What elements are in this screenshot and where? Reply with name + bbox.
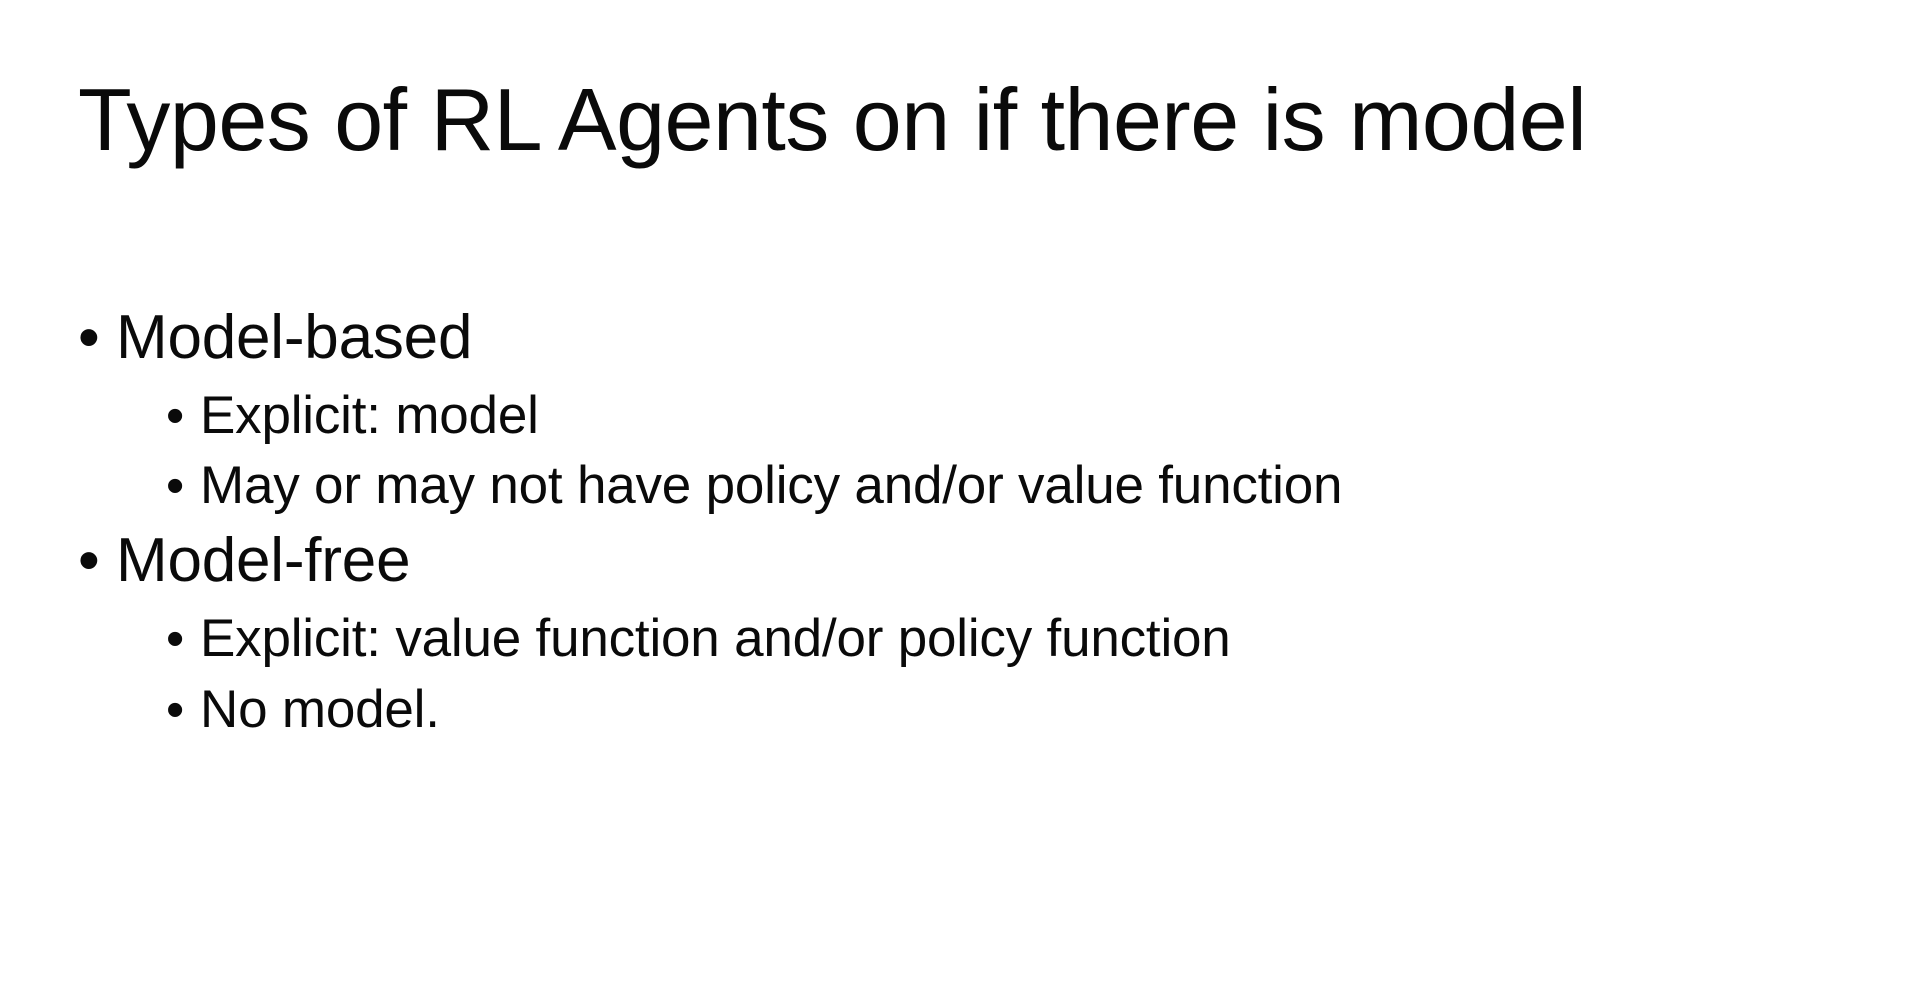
bullet-point-icon: • [166, 390, 200, 442]
list-item-label: Explicit: value function and/or policy f… [200, 606, 1231, 672]
list-item: • Explicit: value function and/or policy… [166, 606, 1868, 672]
presentation-slide: Types of RL Agents on if there is model … [0, 0, 1920, 1004]
list-item-label: Explicit: model [200, 383, 539, 449]
list-item-label: May or may not have policy and/or value … [200, 453, 1342, 519]
bullet-point-icon: • [166, 684, 200, 736]
list-item: • Model-free [78, 523, 1868, 600]
page-title: Types of RL Agents on if there is model [78, 72, 1838, 167]
list-item: • Explicit: model [166, 383, 1868, 449]
bullet-point-icon: • [166, 613, 200, 665]
list-item: • No model. [166, 677, 1868, 743]
bullet-point-icon: • [166, 460, 200, 512]
list-item-label: Model-free [116, 523, 410, 600]
slide-body-content: • Model-based • Explicit: model • May or… [78, 300, 1868, 747]
list-item: • Model-based [78, 300, 1868, 377]
bullet-point-icon: • [78, 530, 116, 592]
bullet-point-icon: • [78, 307, 116, 369]
list-item-label: No model. [200, 677, 440, 743]
list-item-label: Model-based [116, 300, 472, 377]
list-item: • May or may not have policy and/or valu… [166, 453, 1868, 519]
